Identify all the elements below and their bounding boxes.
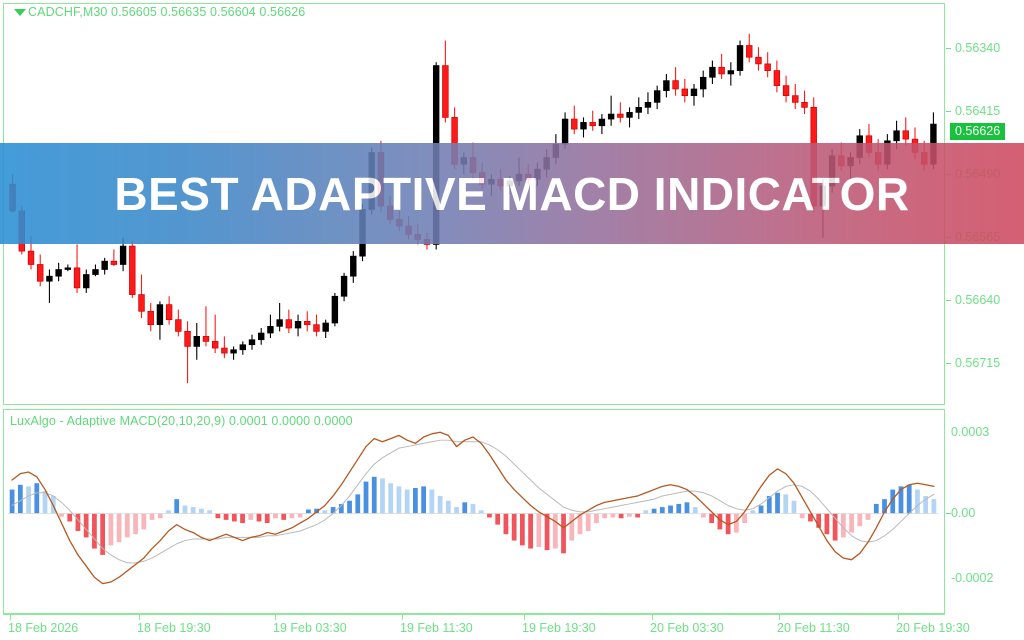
macd-histogram-bar [347,501,352,514]
macd-histogram-bar [487,513,492,517]
candle-body [571,119,577,129]
macd-indicator-panel[interactable] [3,409,945,614]
macd-histogram-bar [273,513,278,518]
macd-histogram-bar [397,486,402,513]
current-price-tag: 0.56626 [950,123,1005,140]
candle-body [120,246,126,264]
macd-histogram-bar [355,494,360,513]
candle-body [443,66,449,118]
time-axis-tick [139,614,140,620]
macd-histogram-bar [421,486,426,513]
macd-histogram-bar [734,513,739,532]
candle-body [47,276,53,281]
candle-body [277,320,283,327]
candle-body [295,321,301,328]
candle-body [710,67,716,77]
candle-body [682,89,688,96]
macd-histogram-bar [915,490,920,514]
macd-histogram-bar [701,513,706,517]
promo-banner: BEST ADAPTIVE MACD INDICATOR [0,143,1024,244]
macd-histogram-bar [652,509,657,514]
macd-histogram-bar [92,513,97,548]
price-axis-tick [946,48,951,49]
macd-histogram-bar [438,496,443,514]
macd-plot [4,410,944,613]
macd-histogram-bar [108,513,113,545]
candle-body [728,71,734,74]
macd-histogram-bar [611,513,616,517]
macd-histogram-bar [290,513,295,518]
macd-histogram-bar [364,482,369,514]
macd-histogram-bar [479,510,484,513]
price-axis-label: 0.56640 [955,293,1000,307]
macd-histogram-bar [429,490,434,514]
macd-histogram-bar [627,513,632,516]
macd-axis-label: -0.0002 [951,571,993,585]
candle-body [102,261,108,269]
candle-body [691,89,697,96]
candle-body [139,295,145,312]
macd-histogram-bar [495,513,500,524]
time-axis-line [3,614,945,615]
time-axis-tick [275,614,276,620]
macd-histogram-bar [800,513,805,518]
macd-histogram-bar [224,513,229,519]
macd-histogram-bar [43,491,48,513]
candle-body [645,102,651,107]
macd-histogram-bar [545,513,550,550]
macd-histogram-bar [520,513,525,545]
macd-histogram-bar [866,513,871,519]
macd-histogram-bar [504,513,509,534]
candle-body [765,64,771,71]
macd-histogram-bar [446,501,451,514]
macd-histogram-bar [594,513,599,523]
candle-body [83,275,89,288]
candle-body [249,340,255,345]
macd-histogram-bar [775,493,780,514]
macd-histogram-bar [199,509,204,514]
time-axis-label: 20 Feb 19:30 [896,621,970,635]
candle-body [737,46,743,71]
macd-histogram-bar [158,513,163,518]
candle-body [157,305,163,325]
macd-histogram-bar [668,506,673,514]
time-axis-label: 18 Feb 19:30 [137,621,211,635]
time-axis-tick [779,614,780,620]
macd-histogram-bar [141,513,146,529]
macd-histogram-bar [166,510,171,513]
candle-body [719,67,725,74]
time-axis-label: 20 Feb 03:30 [650,621,724,635]
macd-histogram-bar [685,502,690,513]
candle-body [185,331,191,346]
time-axis-label: 20 Feb 11:30 [777,621,850,635]
macd-axis-label: 0.00 [951,506,975,520]
macd-histogram-bar [133,513,138,534]
macd-histogram-bar [709,513,714,523]
candle-body [746,46,752,58]
macd-histogram-bar [561,513,566,553]
indicator-label: LuxAlgo - Adaptive MACD(20,10,20,9) 0.00… [10,414,353,428]
candle-body [903,131,909,139]
candle-body [129,246,135,294]
macd-histogram-bar [84,513,89,537]
candle-body [562,119,568,144]
macd-histogram-bar [10,490,15,514]
macd-histogram-bar [34,483,39,513]
macd-histogram-bar [257,513,262,521]
candle-body [341,276,347,296]
macd-histogram-bar [413,488,418,513]
candle-body [664,81,670,91]
macd-histogram-bar [528,513,533,548]
price-axis-label: 0.56715 [955,356,1000,370]
macd-histogram-bar [619,513,624,518]
time-axis-tick [402,614,403,620]
macd-histogram-bar [454,507,459,513]
candle-body [792,96,798,103]
macd-histogram-bar [232,513,237,521]
candle-body [258,333,264,340]
macd-histogram-bar [660,507,665,513]
macd-histogram-bar [512,513,517,540]
macd-histogram-bar [742,513,747,523]
macd-histogram-bar [150,513,155,519]
candle-body [627,112,633,117]
macd-histogram-bar [792,501,797,514]
candle-body [599,119,605,126]
macd-histogram-bar [759,506,764,514]
macd-histogram-bar [825,513,830,534]
macd-histogram-bar [183,506,188,514]
candle-body [802,102,808,107]
macd-histogram-bar [462,502,467,513]
candle-body [314,325,320,332]
candle-body [166,305,172,320]
candle-body [222,348,228,353]
symbol-ohlc-label: CADCHF,M30 0.56605 0.56635 0.56604 0.566… [28,5,305,19]
macd-histogram-bar [693,507,698,513]
macd-histogram-bar [298,513,303,517]
price-axis-label: 0.56415 [955,104,1000,118]
time-axis-tick [10,614,11,620]
candle-body [894,131,900,141]
candle-body [111,261,117,264]
candle-body [774,71,780,86]
candle-body [175,320,181,332]
macd-histogram-bar [907,485,912,514]
candle-body [590,122,596,125]
time-axis-label: 19 Feb 11:30 [400,621,473,635]
macd-histogram-bar [240,513,245,523]
macd-histogram-bar [207,510,212,513]
candle-body [268,326,274,333]
candle-body [148,311,154,324]
candle-body [212,341,218,348]
candle-body [756,57,762,64]
candle-body [56,270,62,277]
macd-histogram-bar [553,513,558,548]
time-axis-label: 19 Feb 19:30 [522,621,596,635]
candle-body [654,91,660,103]
macd-histogram-bar [248,513,253,519]
macd-histogram-bar [125,513,130,537]
price-axis-label: 0.56340 [955,41,1000,55]
macd-histogram-bar [380,478,385,513]
macd-histogram-bar [643,510,648,513]
candle-body [581,122,587,129]
candle-body [203,336,209,341]
macd-histogram-bar [174,499,179,513]
time-axis-label: 18 Feb 2026 [8,621,78,635]
candle-body [240,345,246,350]
candle-body [28,251,34,264]
macd-histogram-bar [783,494,788,513]
candle-body [783,86,789,96]
macd-histogram-bar [750,510,755,513]
macd-histogram-bar [586,513,591,531]
time-axis-tick [524,614,525,620]
macd-histogram-bar [471,504,476,514]
macd-histogram-bar [372,477,377,514]
time-axis-label: 19 Feb 03:30 [273,621,347,635]
price-axis-tick [946,111,951,112]
candle-body [673,81,679,89]
chart-window: CADCHF,M30 0.56605 0.56635 0.56604 0.566… [0,0,1024,640]
candle-body [350,256,356,276]
candle-body [286,320,292,328]
macd-histogram-bar [635,513,640,517]
macd-histogram-bar [117,513,122,542]
macd-histogram-bar [849,513,854,532]
candle-body [608,114,614,119]
macd-histogram-bar [602,513,607,518]
caret-down-icon[interactable] [14,9,26,16]
time-axis-tick [652,614,653,620]
macd-histogram-bar [215,513,220,518]
candle-body [323,323,329,331]
candle-body [194,336,200,346]
candle-body [93,270,99,275]
candle-body [74,268,80,288]
candle-body [700,77,706,89]
price-axis-tick [946,300,951,301]
price-axis-tick [946,363,951,364]
macd-histogram-bar [676,504,681,514]
macd-histogram-bar [26,486,31,513]
macd-histogram-bar [536,513,541,546]
macd-histogram-bar [18,485,23,514]
macd-histogram-bar [388,483,393,513]
promo-banner-text: BEST ADAPTIVE MACD INDICATOR [114,171,909,217]
candle-body [65,268,71,270]
macd-histogram-bar [322,510,327,513]
macd-axis-label: 0.0003 [951,425,989,439]
candle-body [617,114,623,117]
candle-body [37,264,43,281]
candle-body [304,321,310,324]
time-axis-tick [898,614,899,620]
macd-histogram-bar [281,513,286,519]
macd-histogram-bar [191,507,196,513]
macd-histogram-bar [569,513,574,540]
macd-histogram-bar [857,513,862,526]
macd-histogram-bar [932,499,937,513]
macd-histogram-bar [59,513,64,516]
macd-histogram-bar [306,509,311,513]
candle-body [636,107,642,112]
macd-histogram-bar [874,504,879,514]
candle-body [231,350,237,353]
macd-histogram-bar [265,513,270,523]
macd-histogram-bar [67,513,72,521]
macd-histogram-bar [405,490,410,514]
candle-body [332,296,338,323]
